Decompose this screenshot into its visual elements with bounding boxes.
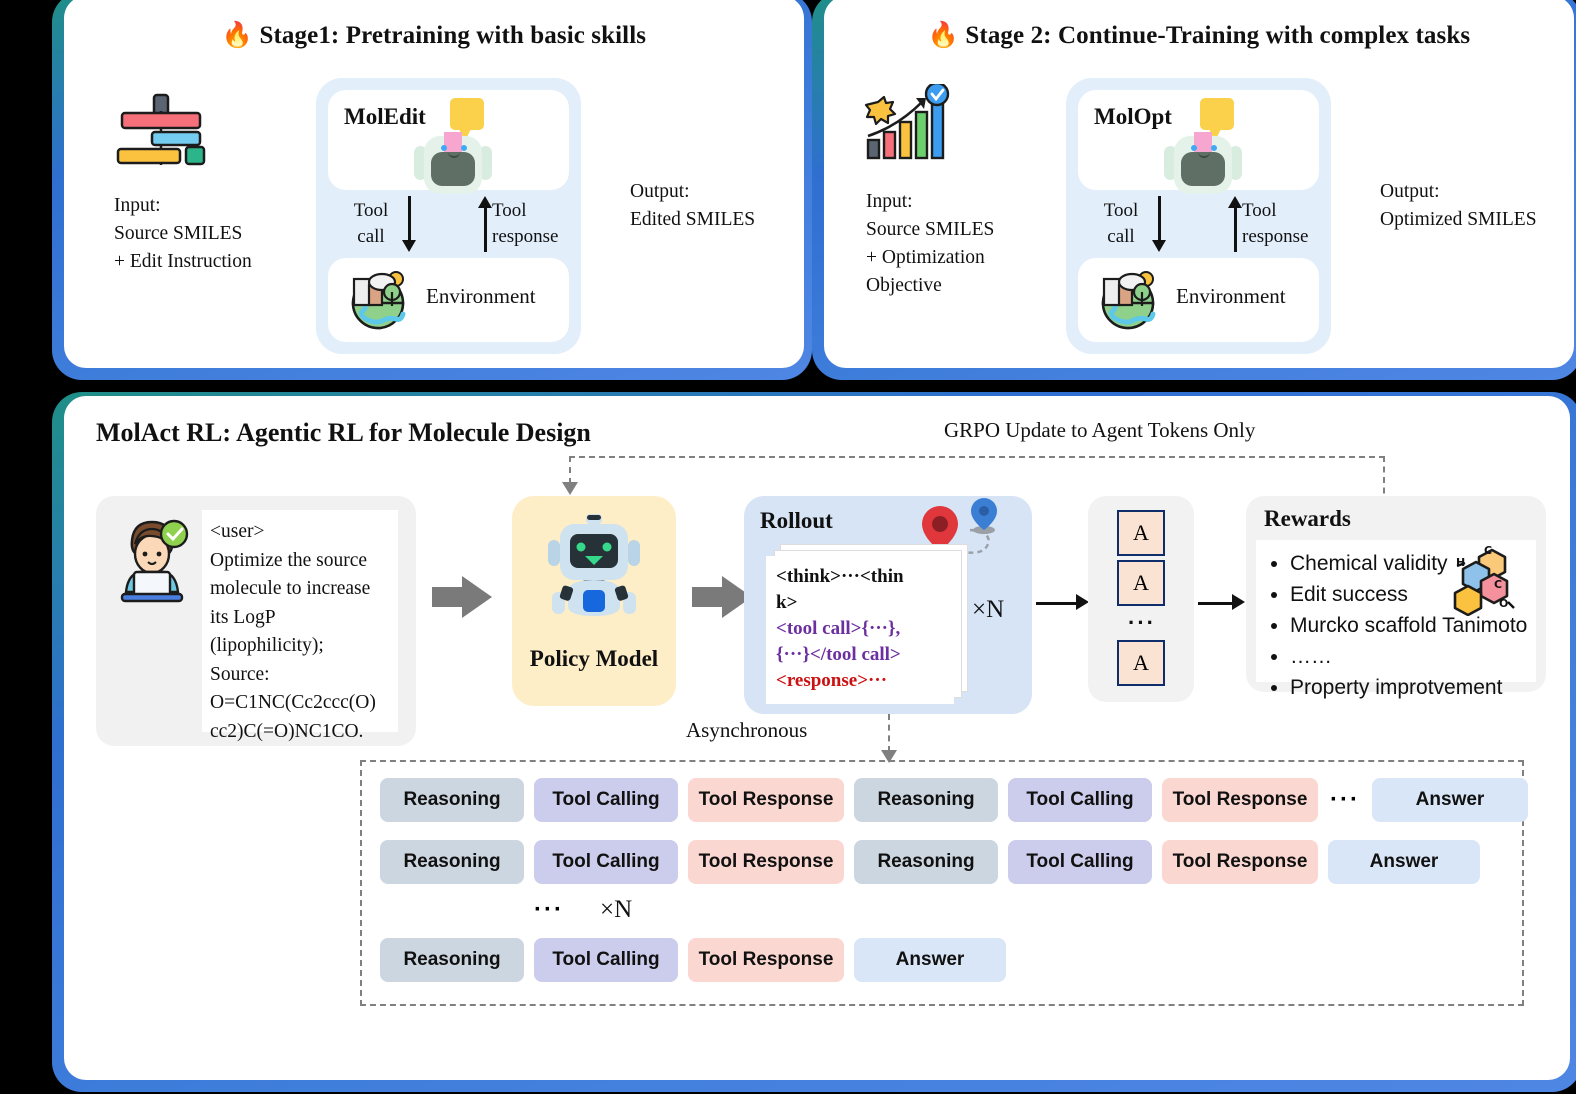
rollout-code-card: <think>···<thin k> <tool call>{···}, {··… — [766, 556, 954, 704]
reward-item: …… — [1290, 641, 1536, 672]
tool-call-line2: call — [336, 224, 406, 250]
user-prompt-text: <user> Optimize the source molecule to i… — [202, 510, 398, 732]
rollout-box: Rollout <think>···<thin k> <tool call>{·… — [744, 496, 1032, 714]
robot-icon — [1164, 132, 1242, 198]
user-prompt-line2: Optimize the source — [210, 547, 392, 576]
tool-response-line1: Tool — [492, 198, 592, 224]
advantage-cell: A — [1117, 640, 1165, 686]
pill-reasoning[interactable]: Reasoning — [380, 938, 524, 982]
rollout-code-line1: <think>···<thin — [776, 564, 948, 590]
user-prompt-line4: its LogP — [210, 604, 392, 633]
pill-tool-calling[interactable]: Tool Calling — [1008, 778, 1152, 822]
stage2-title: Stage 2: Continue-Training with complex … — [965, 22, 1470, 49]
stage1-output-label: Output: — [630, 178, 804, 206]
rl-panel-wrap: MolAct RL: Agentic RL for Molecule Desig… — [52, 392, 1576, 1092]
sliders-icon — [114, 91, 206, 167]
stage2-agent-name: MolOpt — [1094, 104, 1172, 130]
rollout-code-line5: <response>··· — [776, 668, 948, 694]
person-laptop-icon — [102, 510, 202, 606]
user-prompt-line1: <user> — [210, 518, 392, 547]
stage1-title: Stage1: Pretraining with basic skills — [260, 22, 647, 49]
stage1-tool-response-label: Tool response — [492, 198, 592, 250]
flow-arrow-icon — [432, 574, 494, 620]
pill-tool-response[interactable]: Tool Response — [1162, 840, 1318, 884]
advantage-to-rewards-arrow-line — [1198, 602, 1234, 605]
tool-response-line1: Tool — [1242, 198, 1342, 224]
advantage-to-rewards-arrowhead — [1232, 594, 1245, 610]
growth-chart-icon — [862, 84, 954, 164]
stage1-panel: 🔥 Stage1: Pretraining with basic skills … — [64, 0, 804, 368]
advantage-dots: ··· — [1128, 610, 1156, 636]
pill-answer[interactable]: Answer — [1328, 840, 1480, 884]
stage1-panel-wrap: 🔥 Stage1: Pretraining with basic skills … — [52, 0, 812, 380]
pill-tool-calling[interactable]: Tool Calling — [534, 938, 678, 982]
trajectory-repeat-row: ··· ×N — [534, 896, 632, 924]
robot-icon — [540, 510, 648, 622]
trajectory-row: Reasoning Tool Calling Tool Response Rea… — [380, 778, 1528, 822]
stage2-output-label: Output: — [1380, 178, 1574, 206]
tool-response-arrow-line — [1234, 204, 1237, 252]
stage2-agent-card: MolOpt — [1078, 90, 1319, 190]
pill-tool-calling[interactable]: Tool Calling — [534, 778, 678, 822]
pill-reasoning[interactable]: Reasoning — [854, 840, 998, 884]
tool-response-arrowhead — [1228, 196, 1242, 208]
tool-call-arrowhead — [1152, 240, 1166, 252]
rollout-code-line4: {···}</tool call> — [776, 642, 948, 668]
pill-tool-response[interactable]: Tool Response — [688, 840, 844, 884]
stage2-output-block: Output: Optimized SMILES — [1380, 178, 1574, 234]
rollout-to-advantage-arrow-line — [1036, 602, 1078, 605]
user-prompt-line6: Source: — [210, 661, 392, 690]
asynchronous-label: Asynchronous — [686, 718, 807, 743]
pill-tool-response[interactable]: Tool Response — [688, 938, 844, 982]
rollout-label: Rollout — [760, 508, 833, 534]
speech-bubble-icon — [450, 98, 484, 130]
rewards-title: Rewards — [1264, 506, 1351, 532]
molecule-hexagons-icon: CHOC — [1452, 544, 1532, 616]
trajectory-dots: ··· — [534, 896, 564, 924]
tool-call-line2: call — [1086, 224, 1156, 250]
stage2-output-value: Optimized SMILES — [1380, 206, 1574, 234]
rewards-list-panel: Chemical validity Edit success Murcko sc… — [1256, 540, 1536, 682]
stage1-agent-name: MolEdit — [344, 104, 426, 130]
stage2-panel-wrap: 🔥 Stage 2: Continue-Training with comple… — [812, 0, 1576, 380]
pill-tool-calling[interactable]: Tool Calling — [534, 840, 678, 884]
trajectory-row: Reasoning Tool Calling Tool Response Ans… — [380, 938, 1006, 982]
svg-text:C: C — [1494, 578, 1502, 591]
advantage-box: A A ··· A — [1088, 496, 1194, 702]
stage2-title-row: 🔥 Stage 2: Continue-Training with comple… — [824, 21, 1574, 50]
svg-text:O: O — [1499, 597, 1508, 610]
policy-model-label: Policy Model — [512, 646, 676, 672]
pill-reasoning[interactable]: Reasoning — [380, 778, 524, 822]
stage2-panel: 🔥 Stage 2: Continue-Training with comple… — [824, 0, 1574, 368]
user-prompt-line5: (lipophilicity); — [210, 632, 392, 661]
async-dashed-line — [888, 714, 890, 752]
stage1-env-card: Environment — [328, 258, 569, 342]
rewards-box: Rewards Chemical validity Edit success M… — [1246, 496, 1546, 692]
svg-text:C: C — [1484, 544, 1492, 557]
rollout-code-line3: <tool call>{···}, — [776, 616, 948, 642]
stage2-env-card: Environment — [1078, 258, 1319, 342]
stage1-tool-call-label: Tool call — [336, 198, 406, 250]
tool-call-arrow-line — [1158, 196, 1161, 244]
stage1-output-block: Output: Edited SMILES — [630, 178, 804, 234]
pill-tool-response[interactable]: Tool Response — [688, 778, 844, 822]
pill-tool-calling[interactable]: Tool Calling — [1008, 840, 1152, 884]
rl-panel: MolAct RL: Agentic RL for Molecule Desig… — [64, 396, 1570, 1080]
tool-call-arrow-line — [408, 196, 411, 244]
speech-bubble-icon — [1200, 98, 1234, 130]
trajectory-dots: ··· — [1328, 786, 1362, 814]
stage2-environment-label: Environment — [1176, 284, 1286, 309]
user-input-box: <user> Optimize the source molecule to i… — [96, 496, 416, 746]
trajectories-box: Reasoning Tool Calling Tool Response Rea… — [360, 760, 1524, 1006]
earth-city-icon — [340, 266, 416, 332]
tool-response-line2: response — [1242, 224, 1342, 250]
grpo-arrowhead — [562, 482, 578, 495]
advantage-cell: A — [1117, 560, 1165, 606]
stage1-output-value: Edited SMILES — [630, 206, 804, 234]
pill-tool-response[interactable]: Tool Response — [1162, 778, 1318, 822]
grpo-dashed-left — [569, 456, 571, 484]
stage1-agent-card: MolEdit — [328, 90, 569, 190]
robot-icon — [414, 132, 492, 198]
advantage-cell: A — [1117, 510, 1165, 556]
reward-item: Property improtvement — [1290, 672, 1536, 703]
tool-call-line1: Tool — [336, 198, 406, 224]
pill-reasoning[interactable]: Reasoning — [380, 840, 524, 884]
tool-response-line2: response — [492, 224, 592, 250]
stage1-title-row: 🔥 Stage1: Pretraining with basic skills — [64, 21, 804, 50]
user-prompt-line8: cc2)C(=O)NC1CO. — [210, 718, 392, 747]
trajectory-row: Reasoning Tool Calling Tool Response Rea… — [380, 840, 1480, 884]
stage2-agent-box: MolOpt Tool call Tool — [1066, 78, 1331, 354]
pill-reasoning[interactable]: Reasoning — [854, 778, 998, 822]
pill-answer[interactable]: Answer — [1372, 778, 1528, 822]
stage1-environment-label: Environment — [426, 284, 536, 309]
stage2-tool-response-label: Tool response — [1242, 198, 1342, 250]
grpo-dashed-top — [569, 456, 1385, 458]
tool-call-line1: Tool — [1086, 198, 1156, 224]
rollout-code-line2: k> — [776, 590, 948, 616]
policy-model-box: Policy Model — [512, 496, 676, 706]
stage1-agent-box: MolEdit Tool call Tool — [316, 78, 581, 354]
trajectory-times-n: ×N — [600, 896, 632, 924]
grpo-label: GRPO Update to Agent Tokens Only — [944, 418, 1255, 443]
pill-answer[interactable]: Answer — [854, 938, 1006, 982]
flame-icon: 🔥 — [928, 22, 959, 49]
earth-city-icon — [1090, 266, 1166, 332]
tool-response-arrowhead — [478, 196, 492, 208]
tool-call-arrowhead — [402, 240, 416, 252]
user-prompt-line3: molecule to increase — [210, 575, 392, 604]
rollout-times-n: ×N — [972, 596, 1004, 624]
stage2-tool-call-label: Tool call — [1086, 198, 1156, 250]
user-prompt-line7: O=C1NC(Cc2ccc(O) — [210, 689, 392, 718]
rl-title: MolAct RL: Agentic RL for Molecule Desig… — [96, 418, 591, 448]
tool-response-arrow-line — [484, 204, 487, 252]
flame-icon: 🔥 — [222, 22, 253, 49]
